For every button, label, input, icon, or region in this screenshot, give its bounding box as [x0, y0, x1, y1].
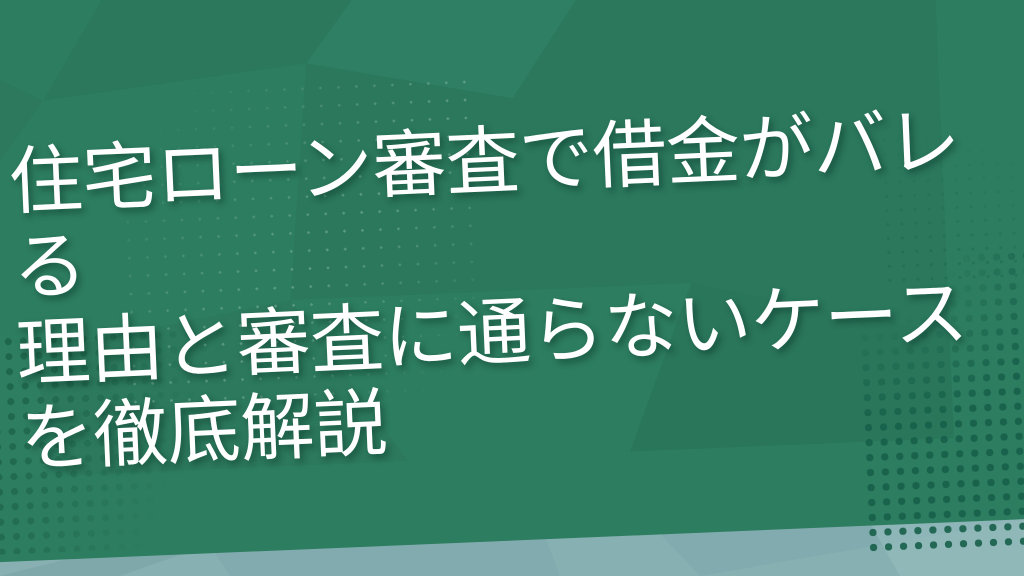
banner-title: 住宅ローン審査で借金がバレる 理由と審査に通らないケース を徹底解説 — [7, 96, 1024, 483]
title-container: 住宅ローン審査で借金がバレる 理由と審査に通らないケース を徹底解説 — [0, 0, 1024, 576]
banner-canvas: 住宅ローン審査で借金がバレる 理由と審査に通らないケース を徹底解説 — [0, 0, 1024, 576]
